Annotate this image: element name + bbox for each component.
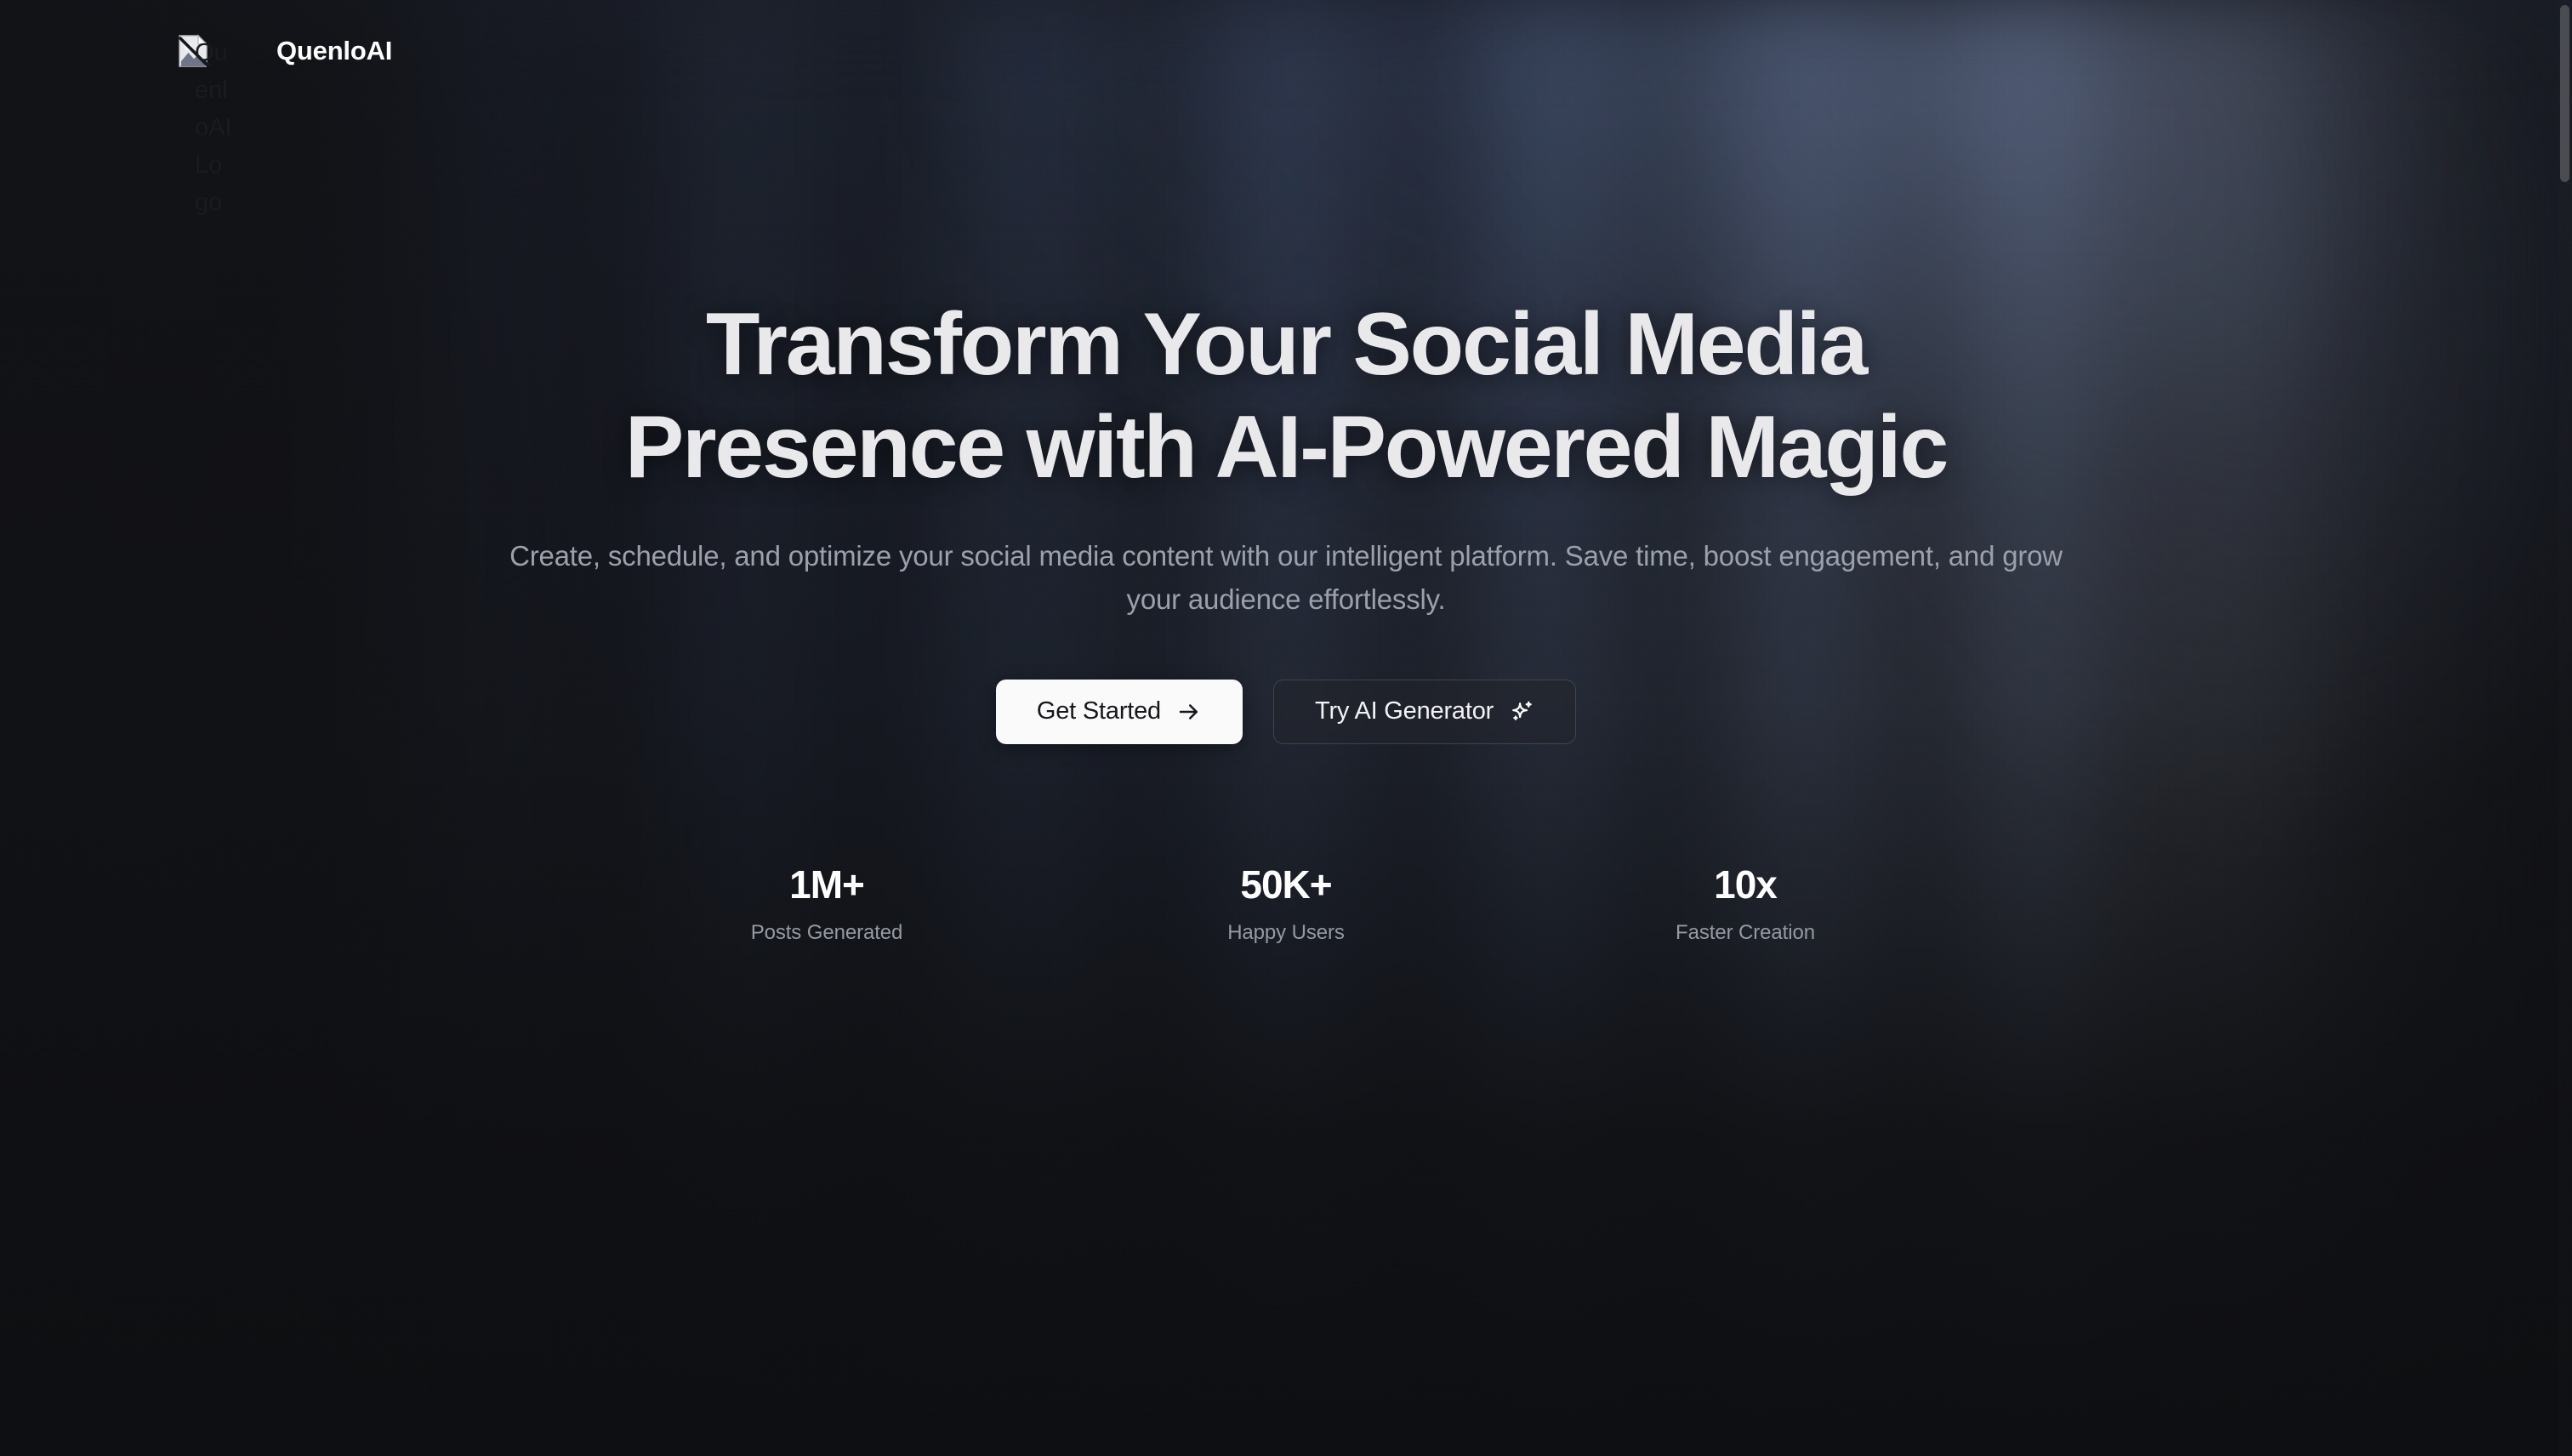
cta-button-row: Get Started Try AI Generator — [996, 680, 1576, 744]
hero-section: Transform Your Social Media Presence wit… — [0, 0, 2572, 1456]
brand-logo-link[interactable]: QuenloAI Logo QuenloAI — [174, 32, 392, 70]
brand-name: QuenloAI — [276, 32, 392, 70]
stat-posts-generated: 1M+ Posts Generated — [648, 863, 1005, 946]
page-title: Transform Your Social Media Presence wit… — [555, 293, 2017, 498]
arrow-right-icon — [1176, 699, 1202, 725]
get-started-label: Get Started — [1037, 697, 1161, 725]
stats-row: 1M+ Posts Generated 50K+ Happy Users 10x… — [648, 863, 1924, 946]
stat-value: 50K+ — [1107, 863, 1465, 907]
get-started-button[interactable]: Get Started — [996, 680, 1243, 744]
hero-subtitle: Create, schedule, and optimize your soci… — [487, 534, 2085, 621]
try-ai-generator-label: Try AI Generator — [1315, 697, 1494, 725]
stat-value: 10x — [1567, 863, 1924, 907]
stat-happy-users: 50K+ Happy Users — [1107, 863, 1465, 946]
vertical-scrollbar[interactable] — [2558, 0, 2572, 1456]
top-navbar: QuenloAI Logo QuenloAI — [0, 0, 2572, 128]
stat-faster-creation: 10x Faster Creation — [1567, 863, 1924, 946]
broken-image-alt-text: QuenloAI Logo — [195, 34, 234, 221]
broken-image-icon: QuenloAI Logo — [174, 32, 212, 70]
try-ai-generator-button[interactable]: Try AI Generator — [1273, 680, 1576, 744]
scrollbar-thumb[interactable] — [2560, 5, 2569, 182]
stat-value: 1M+ — [648, 863, 1005, 907]
hero-landing-page: QuenloAI Logo QuenloAI Transform Your So… — [0, 0, 2572, 1456]
stat-label: Happy Users — [1107, 921, 1465, 945]
sparkles-icon — [1509, 699, 1534, 725]
stat-label: Faster Creation — [1567, 921, 1924, 945]
stat-label: Posts Generated — [648, 921, 1005, 945]
